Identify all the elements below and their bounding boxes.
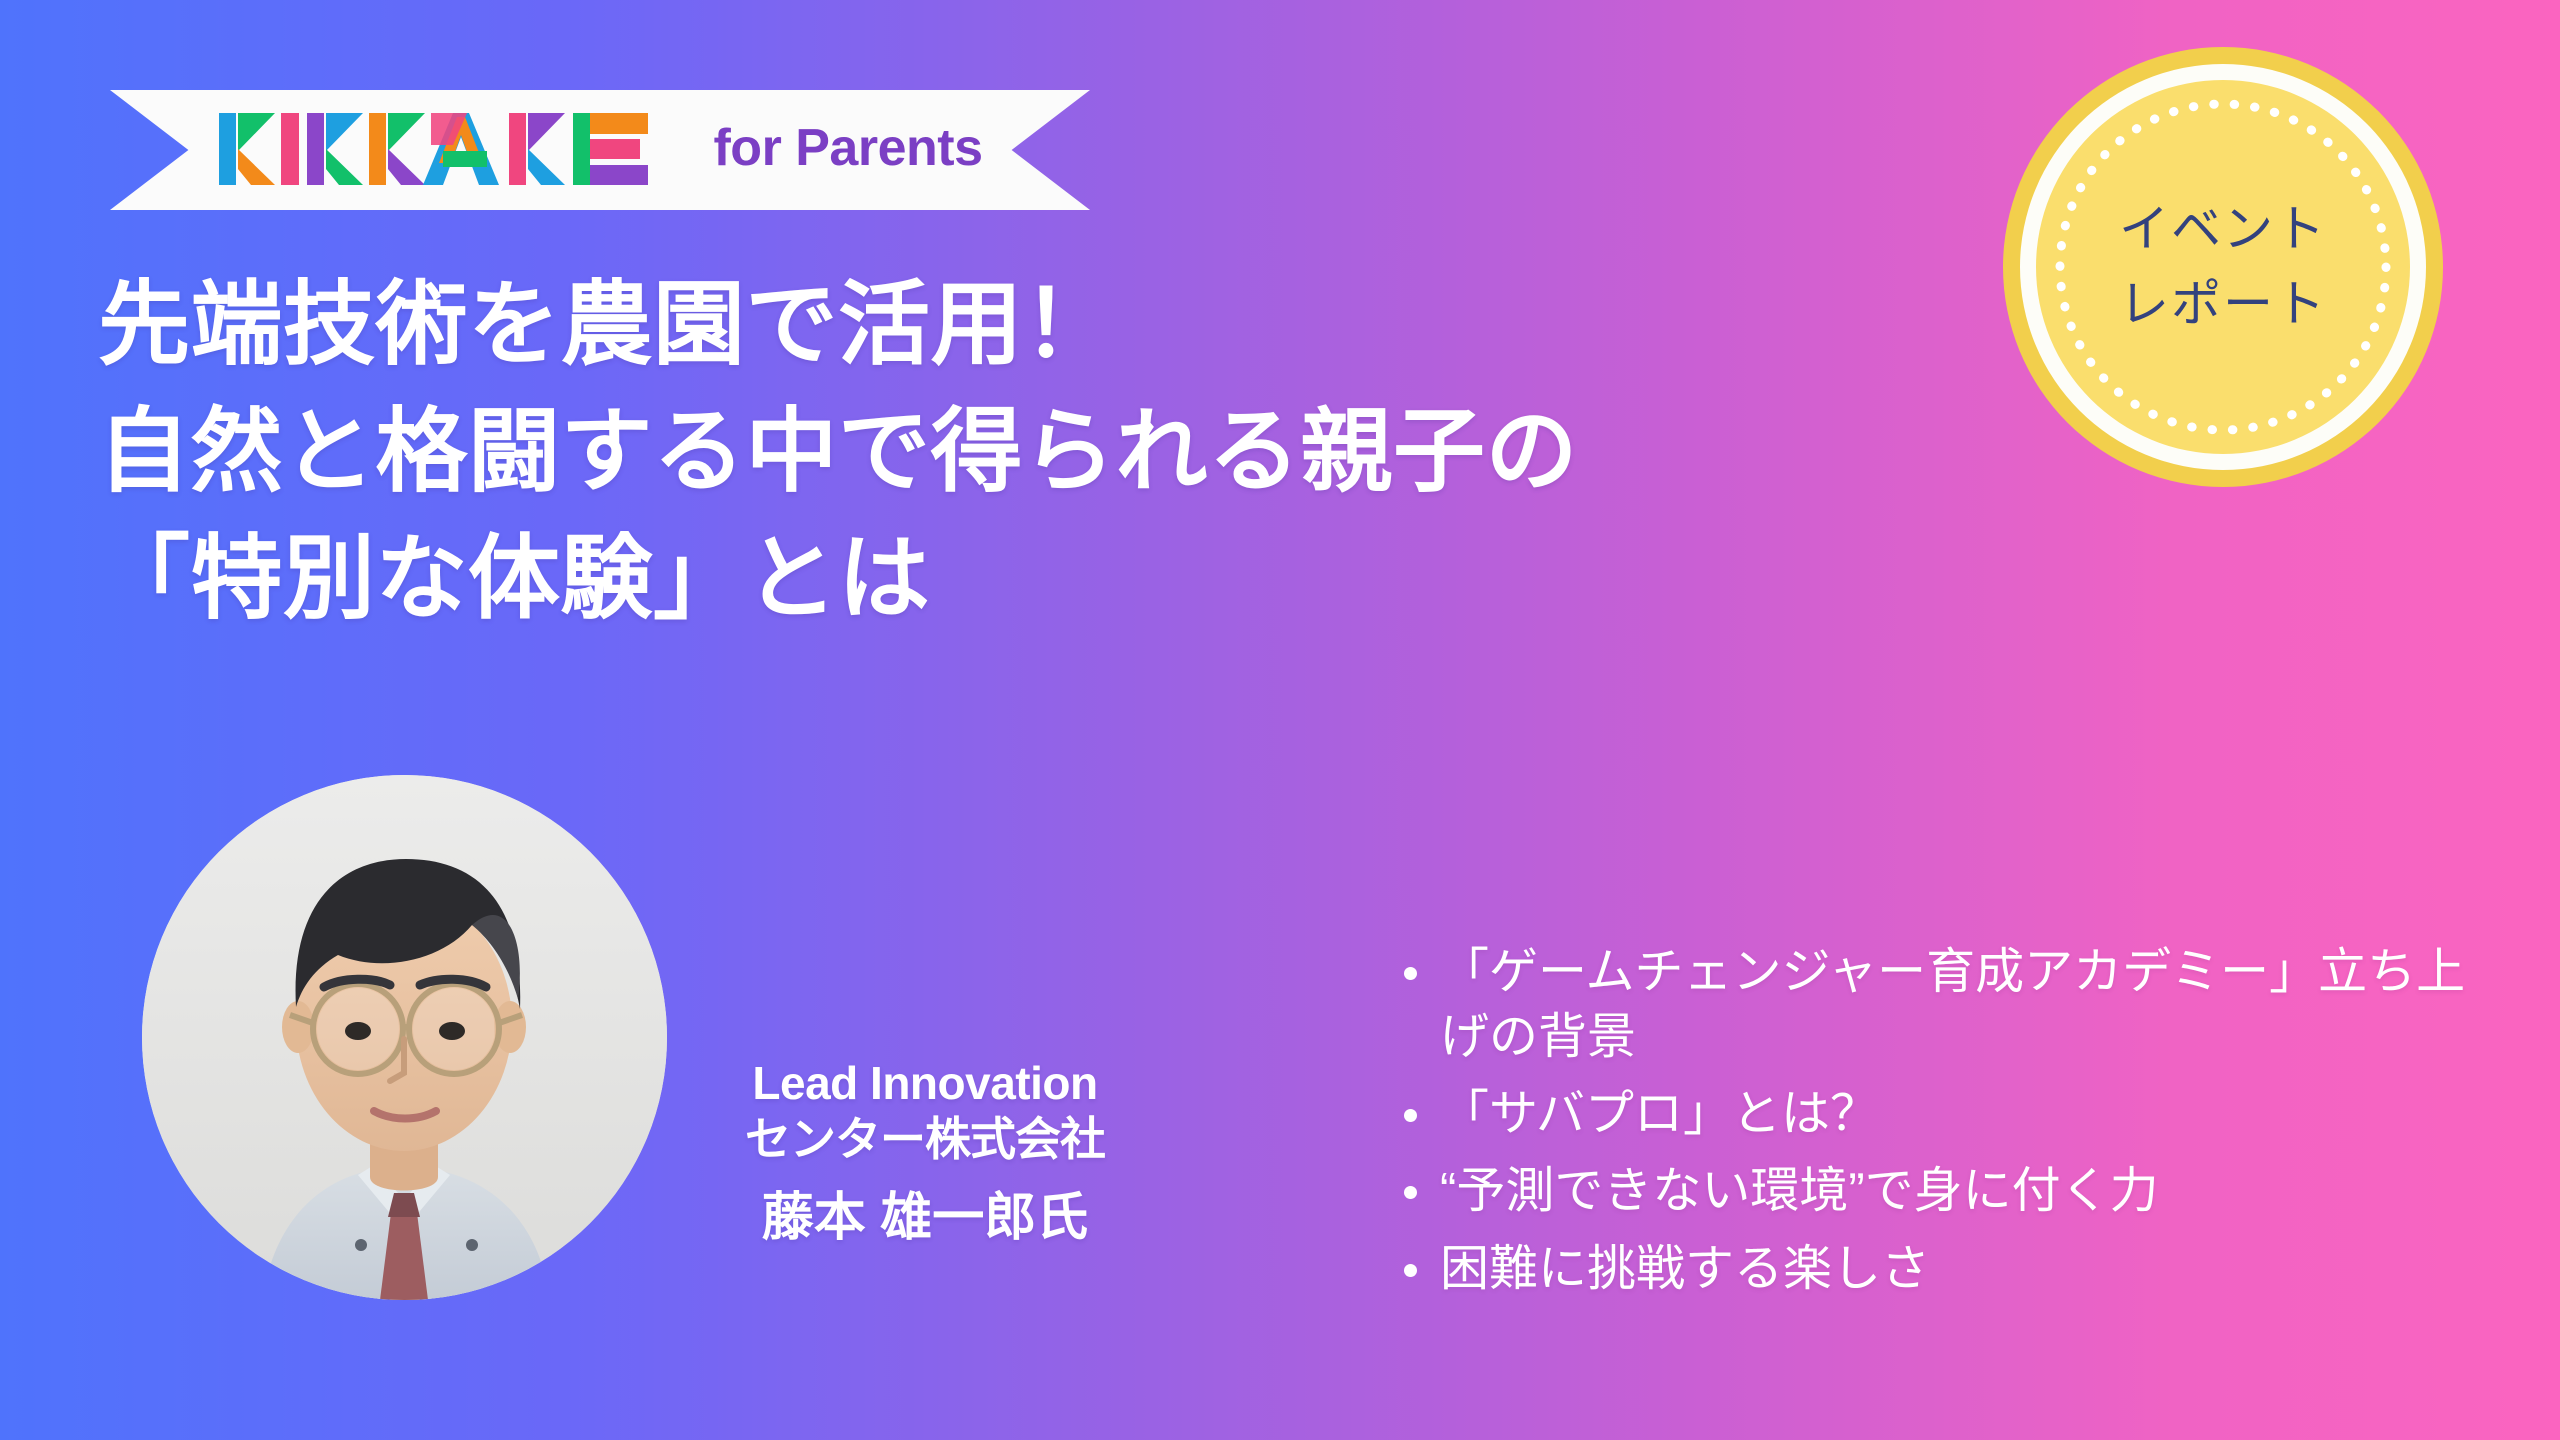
kikkake-logo bbox=[217, 113, 687, 187]
speaker-org-en: Lead Innovation bbox=[690, 1055, 1160, 1111]
kikkake-logo-svg bbox=[217, 111, 687, 187]
topics-list: 「ゲームチェンジャー育成アカデミー」立ち上げの背景 「サバプロ」とは？ “予測で… bbox=[1390, 940, 2500, 1314]
brand-ribbon: for Parents bbox=[110, 90, 1090, 210]
speaker-name: 藤本 雄一郎氏 bbox=[690, 1187, 1160, 1250]
badge-label: イベント レポート bbox=[2119, 192, 2327, 342]
speaker-org-jp: センター株式会社 bbox=[690, 1111, 1160, 1167]
page-title: 先端技術を農園で活用！ 自然と格闘する中で得られる親子の 「特別な体験」とは bbox=[98, 262, 1798, 643]
list-item: 「サバプロ」とは？ bbox=[1390, 1082, 2500, 1147]
list-item: “予測できない環境”で身に付く力 bbox=[1390, 1159, 2500, 1224]
speaker-avatar-illustration bbox=[142, 775, 667, 1300]
page-title-line-1: 先端技術を農園で活用！ bbox=[98, 262, 1798, 389]
event-report-slide: for Parents 先端技術を農園で活用！ 自然と格闘する中で得られる親子の… bbox=[0, 0, 2560, 1440]
ribbon-tagline: for Parents bbox=[713, 118, 982, 182]
page-title-line-2: 自然と格闘する中で得られる親子の bbox=[98, 389, 1798, 516]
list-item: 「ゲームチェンジャー育成アカデミー」立ち上げの背景 bbox=[1390, 940, 2500, 1070]
brand-ribbon-content: for Parents bbox=[217, 113, 982, 187]
topics-list-ul: 「ゲームチェンジャー育成アカデミー」立ち上げの背景 「サバプロ」とは？ “予測で… bbox=[1390, 940, 2500, 1302]
speaker-info: Lead Innovation センター株式会社 藤本 雄一郎氏 bbox=[690, 1055, 1160, 1251]
page-title-line-3: 「特別な体験」とは bbox=[98, 516, 1798, 643]
badge-label-line-2: レポート bbox=[2119, 267, 2327, 342]
badge-label-line-1: イベント bbox=[2119, 192, 2327, 267]
list-item: 困難に挑戦する楽しさ bbox=[1390, 1237, 2500, 1302]
speaker-avatar bbox=[142, 775, 667, 1300]
event-report-badge: イベント レポート bbox=[2003, 47, 2443, 487]
